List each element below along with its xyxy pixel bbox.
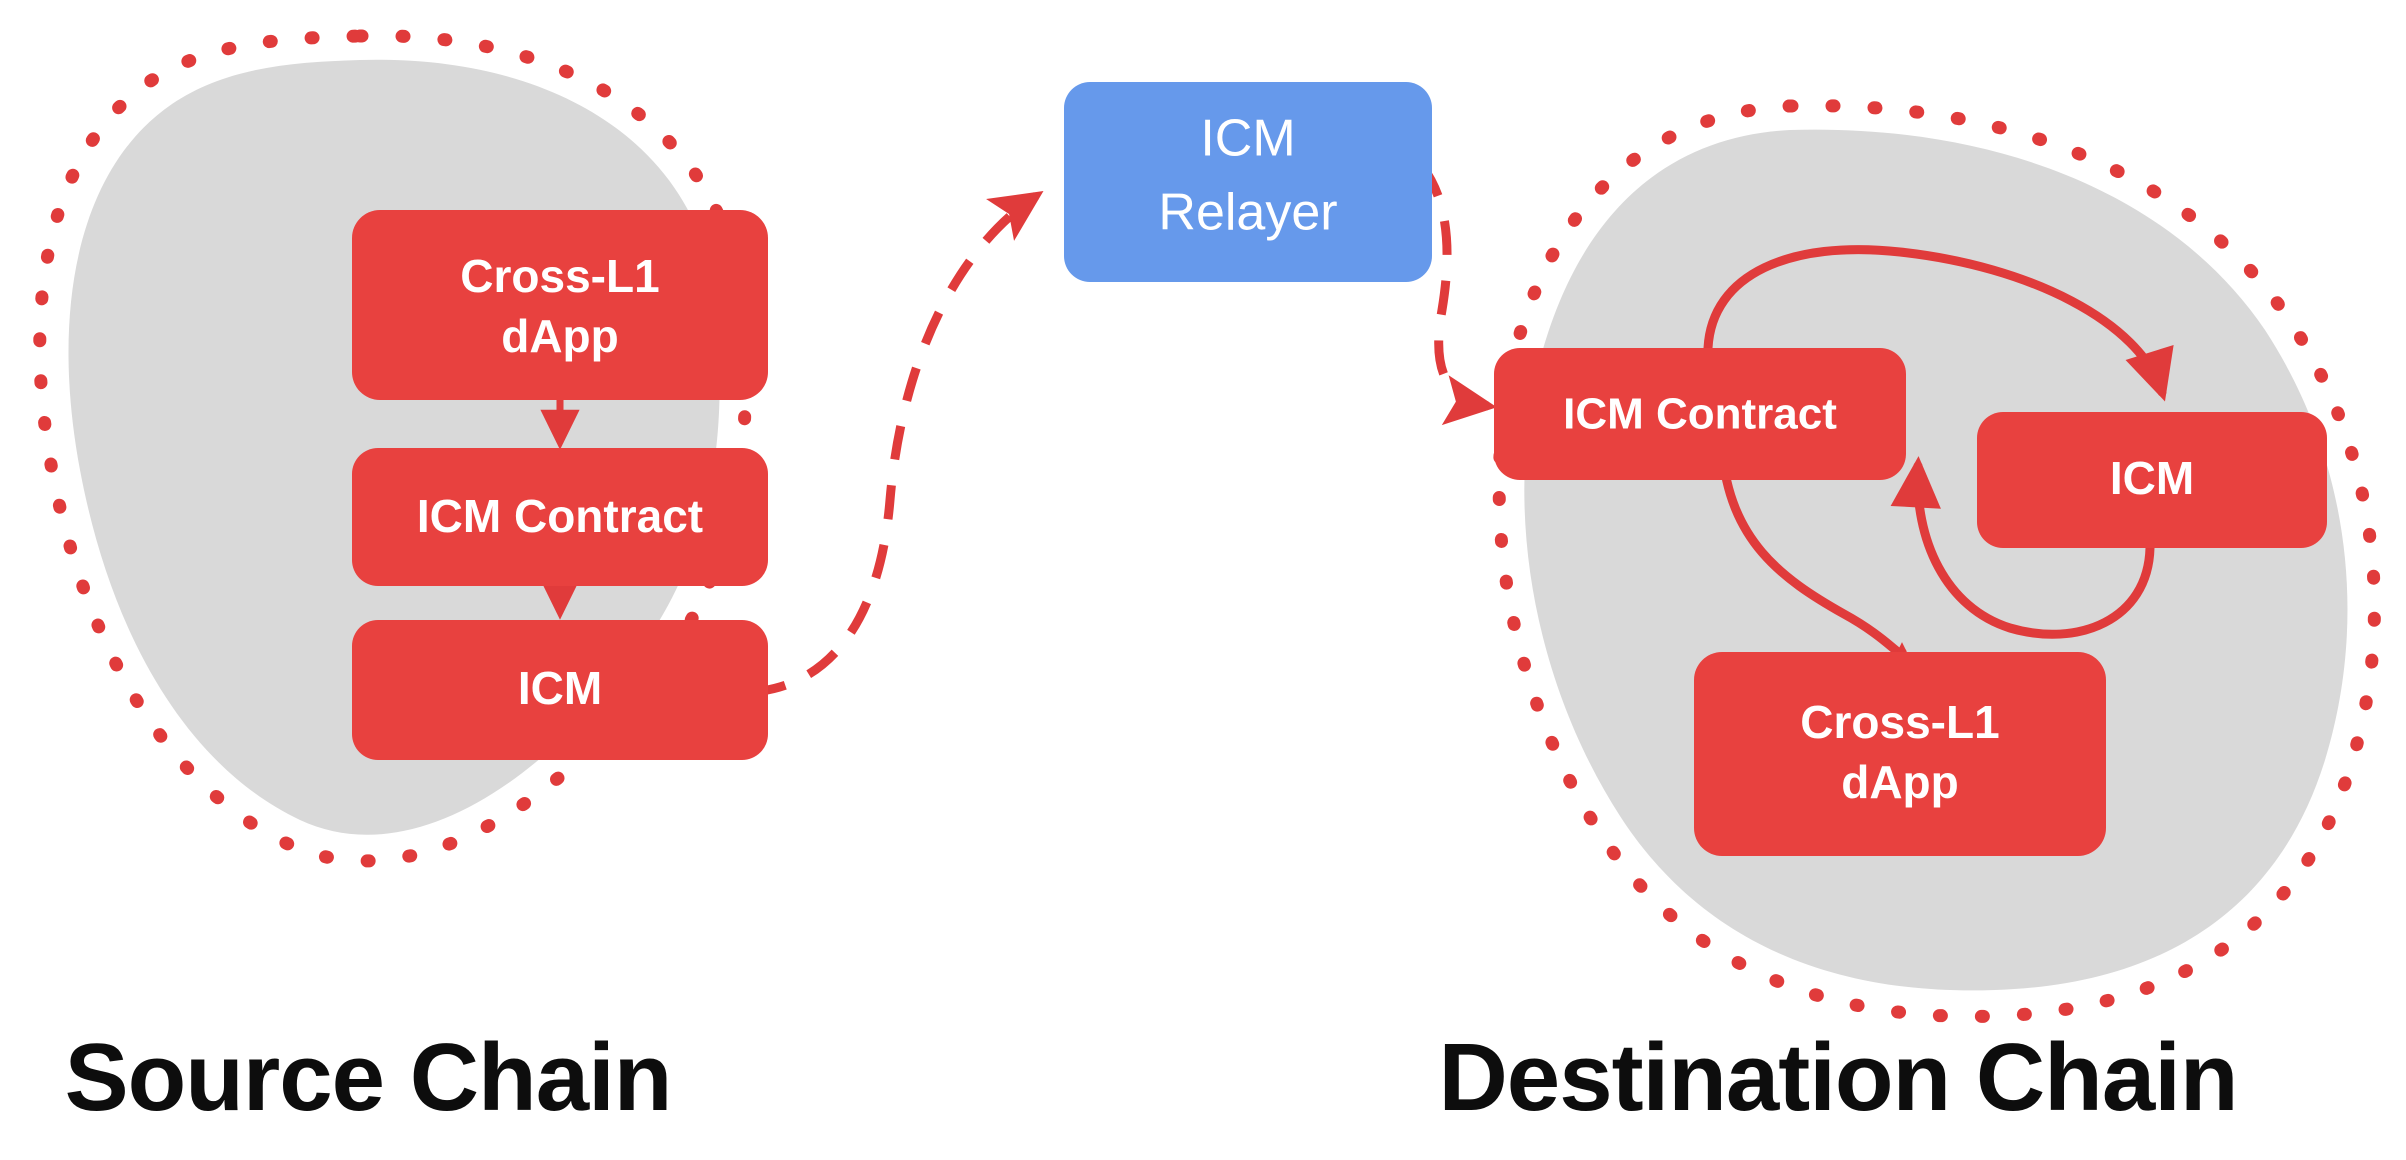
dst-icm-node[interactable]: ICM (1977, 412, 2327, 548)
src-dapp-label-line2: dApp (501, 310, 619, 362)
source-chain-caption: Source Chain (65, 1024, 672, 1131)
dst-icm-contract-node[interactable]: ICM Contract (1494, 348, 1906, 480)
dst-icm-contract-label: ICM Contract (1563, 390, 1837, 439)
destination-chain-caption: Destination Chain (1438, 1024, 2237, 1131)
dst-dapp-label-line1: Cross-L1 (1800, 696, 1999, 748)
arrow-src-icm-to-relayer-group (752, 196, 1036, 692)
dst-dapp-label-line2: dApp (1841, 756, 1959, 808)
arrow-src-icm-to-relayer (752, 196, 1036, 692)
icm-relayer-label-line1: ICM (1200, 110, 1295, 168)
src-icm-contract-node[interactable]: ICM Contract (352, 448, 768, 586)
src-icm-label: ICM (518, 662, 602, 714)
src-icm-node[interactable]: ICM (352, 620, 768, 760)
icm-relayer-node[interactable]: ICM Relayer (1064, 82, 1432, 282)
src-dapp-node[interactable]: Cross-L1 dApp (352, 210, 768, 400)
icm-relayer-label-line2: Relayer (1158, 184, 1337, 242)
dst-icm-label: ICM (2110, 452, 2194, 504)
src-dapp-label-line1: Cross-L1 (460, 250, 659, 302)
src-dapp-box[interactable] (352, 210, 768, 400)
icm-flow-diagram: Cross-L1 dApp ICM Contract ICM ICM Relay… (0, 0, 2406, 1160)
src-icm-contract-label: ICM Contract (417, 490, 703, 542)
dst-dapp-box[interactable] (1694, 652, 2106, 856)
dst-dapp-node[interactable]: Cross-L1 dApp (1694, 652, 2106, 856)
diagram-canvas: Cross-L1 dApp ICM Contract ICM ICM Relay… (0, 0, 2406, 1160)
